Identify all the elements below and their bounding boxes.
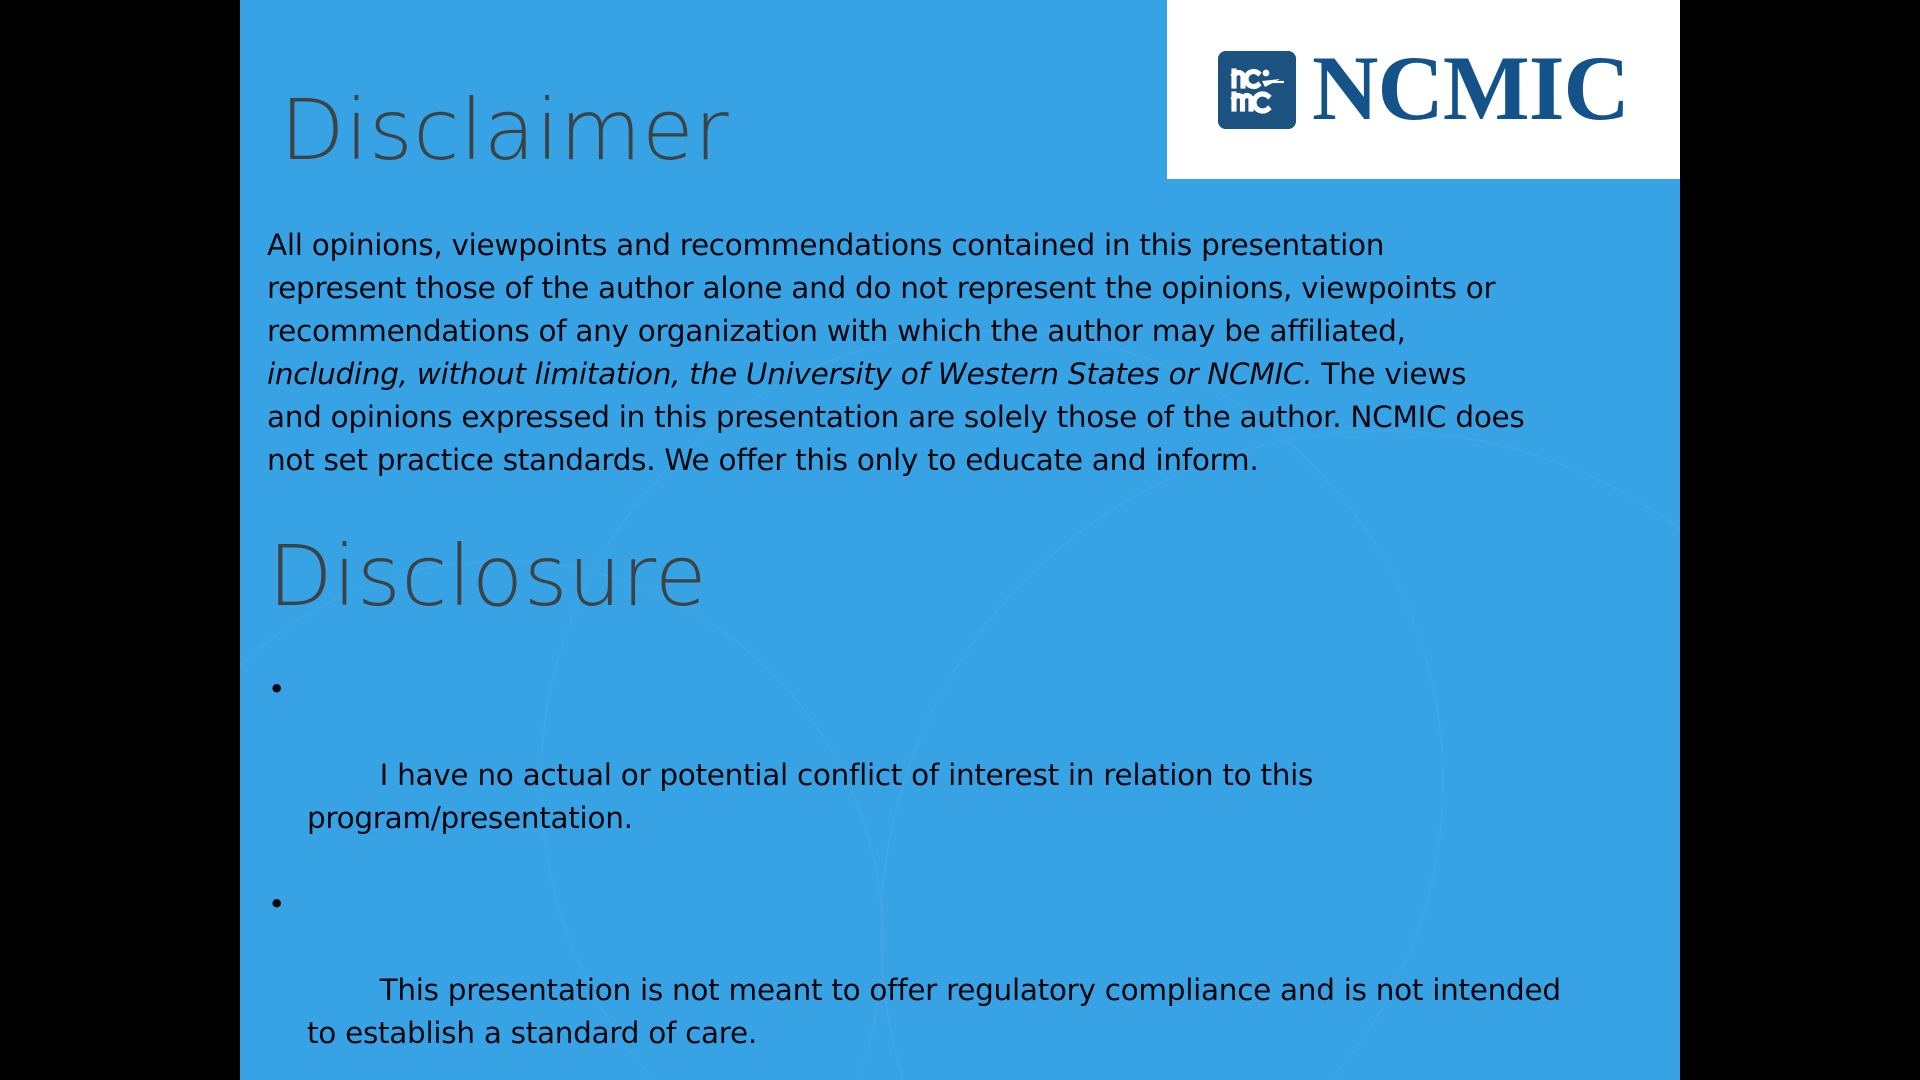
disclaimer-heading: Disclaimer: [280, 88, 729, 172]
ncmic-wordmark: NCMIC: [1312, 42, 1629, 134]
list-item-label: This presentation is not meant to offer …: [307, 973, 1570, 1050]
presentation-stage: NCMIC Disclaimer All opinions, viewpoint…: [0, 0, 1920, 1080]
bullet-icon: •: [268, 668, 285, 711]
disclosure-bullet-list: • I have no actual or potential conflict…: [262, 668, 1562, 1080]
disclaimer-paragraph: All opinions, viewpoints and recommendat…: [267, 224, 1527, 482]
disclaimer-text-part-1: All opinions, viewpoints and recommendat…: [267, 228, 1504, 348]
slide-canvas: NCMIC Disclaimer All opinions, viewpoint…: [240, 0, 1680, 1080]
ncmic-logo-mark-icon: [1218, 51, 1296, 129]
list-item: • I have no actual or potential conflict…: [262, 668, 1562, 883]
disclosure-heading: Disclosure: [268, 534, 707, 618]
ncmic-logo: NCMIC: [1167, 0, 1680, 179]
list-item-label: I have no actual or potential conflict o…: [307, 758, 1322, 835]
bullet-icon: •: [268, 883, 285, 926]
list-item: • This presentation is not meant to offe…: [262, 883, 1562, 1080]
disclaimer-text-italic: including, without limitation, the Unive…: [267, 357, 1312, 391]
